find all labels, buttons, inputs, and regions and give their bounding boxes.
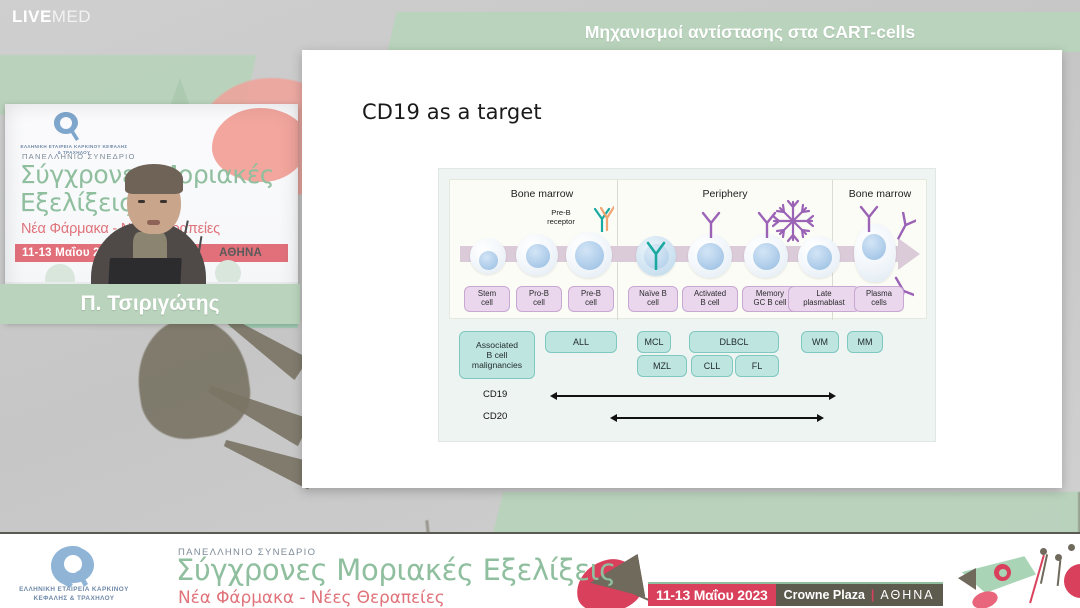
antibody-icon: [700, 210, 722, 238]
footer-venue-block: Crowne Plaza | ΑΘΗΝΑ: [776, 584, 943, 606]
malignancies-group-label: Associated B cell malignancies: [459, 331, 535, 379]
cell-label-activated-b-cell: Activated B cell: [682, 286, 738, 312]
marker-range-cd20: [617, 417, 817, 419]
livemed-logo: LIVEMED: [12, 8, 91, 25]
footer-twig-icon: [1029, 555, 1045, 604]
footer-venue: Crowne Plaza: [784, 588, 865, 602]
footer-seed-icon: [1068, 544, 1075, 551]
footer-city: ΑΘΗΝΑ: [880, 588, 934, 602]
figure-cell-lineage-panel: Bone marrow Periphery Bone marrow Pre-B …: [449, 179, 927, 319]
cell-label-late-plasmablast: Late plasmablast: [788, 286, 860, 312]
cell-label-plasma-cells: Plasma cells: [854, 286, 904, 312]
footer-date-venue-bar: 11-13 Μαΐου 2023 Crowne Plaza | ΑΘΗΝΑ: [648, 582, 943, 606]
malignancy-all: ALL: [545, 331, 617, 353]
malignancy-mzl: MZL: [637, 355, 687, 377]
society-name: ΕΛΛΗΝΙΚΗ ΕΤΑΙΡΕΙΑ KAPKINOY ΚΕΦΑΛΗΣ & ΤΡΑ…: [8, 586, 140, 604]
cell-label-pre-b-cell: Pre-B cell: [568, 286, 614, 312]
cell-pro-b: [516, 234, 558, 276]
pre-b-receptor-annotation: Pre-B receptor: [532, 208, 590, 226]
background-green-band-icon: [493, 492, 1080, 534]
marker-label-cd20: CD20: [483, 411, 507, 422]
secreted-antibody-cluster-icon: [770, 198, 816, 244]
marker-range-cd19: [557, 395, 829, 397]
speaker-name: Π. Τσιριγώτης: [0, 284, 300, 324]
maturation-arrow-head-icon: [898, 238, 920, 270]
cell-stem: [470, 238, 506, 274]
cell-plasma: [854, 224, 896, 282]
malignancy-mm: MM: [847, 331, 883, 353]
presentation-slide[interactable]: CD19 as a target Bone marrow Periphery B…: [302, 50, 1062, 488]
cell-activated-b: [688, 234, 732, 278]
livemed-logo-light: MED: [52, 7, 91, 26]
conference-footer-banner: ΕΛΛΗΝΙΚΗ ΕΤΑΙΡΕΙΑ KAPKINOY ΚΕΦΑΛΗΣ & ΤΡΑ…: [0, 532, 1080, 608]
footer-drop-icon: [970, 588, 1000, 608]
b-cell-development-figure: Bone marrow Periphery Bone marrow Pre-B …: [438, 168, 936, 442]
malignancy-cll: CLL: [691, 355, 733, 377]
cell-label-naive-b-cell: Naïve B cell: [628, 286, 678, 312]
antibody-icon: [894, 212, 916, 240]
slide-title: CD19 as a target: [362, 100, 542, 124]
malignancy-dlbcl: DLBCL: [689, 331, 779, 353]
compartment-label-bone-marrow-left: Bone marrow: [468, 188, 616, 200]
footer-circle-red-icon: [1064, 564, 1080, 598]
bcr-icon: [644, 240, 668, 270]
background-green-band-icon: [1060, 492, 1080, 534]
malignancy-fl: FL: [735, 355, 779, 377]
society-logo-icon: [40, 544, 106, 588]
session-title: Μηχανισμοί αντίστασης στα CART-cells: [420, 12, 1080, 52]
livemed-logo-bold: LIVE: [12, 7, 52, 26]
malignancy-wm: WM: [801, 331, 839, 353]
antibody-icon: [858, 204, 880, 232]
footer-headline: Σύγχρονες Μοριακές Εξελίξεις: [176, 556, 616, 585]
footer-subtitle: Νέα Φάρμακα - Νέες Θεραπείες: [178, 588, 445, 608]
compartment-label-bone-marrow-right: Bone marrow: [834, 188, 926, 200]
cell-label-pro-b-cell: Pro-B cell: [516, 286, 562, 312]
screen-background: LIVEMED Μηχανισμοί αντίστασης στα CART-c…: [0, 0, 1080, 608]
footer-bird-eye-inner-icon: [999, 569, 1007, 577]
footer-separator: |: [871, 588, 875, 602]
marker-label-cd19: CD19: [483, 389, 507, 400]
pre-b-receptor-icon: [590, 206, 614, 232]
cell-pre-b: [566, 232, 612, 278]
malignancy-mcl: MCL: [637, 331, 671, 353]
footer-seed-stem-icon: [1057, 560, 1061, 586]
footer-date: 11-13 Μαΐου 2023: [648, 584, 776, 606]
cell-label-stem-cell: Stem cell: [464, 286, 510, 312]
